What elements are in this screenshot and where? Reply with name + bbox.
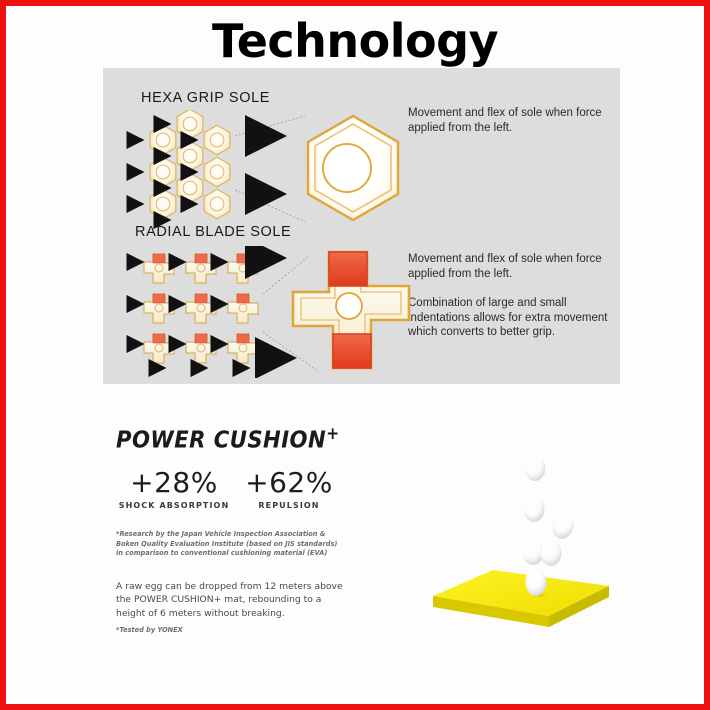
- radial-blade-sole-illustration: [123, 246, 413, 378]
- stat-repulsion-value: +62%: [234, 466, 344, 499]
- egg-bounce-illustration: [421, 446, 621, 631]
- technology-diagram-panel: HEXA GRIP SOLE Movement and flex of sole…: [103, 68, 620, 384]
- tested-by-note: *Tested by YONEX: [116, 626, 183, 634]
- stat-shock-absorption: +28% SHOCK ABSORPTION: [114, 466, 234, 510]
- radial-blade-sole-description-2: Combination of large and small indentati…: [408, 296, 613, 340]
- stat-repulsion-label: REPULSION: [234, 501, 344, 510]
- technology-page: Technology HEXA GRIP SOLE Movement and f…: [0, 0, 710, 710]
- egg: [549, 510, 577, 541]
- power-cushion-plus: +: [326, 424, 340, 444]
- egg-group: [523, 455, 578, 596]
- radial-blade-sole-description-1: Movement and flex of sole when force app…: [408, 252, 613, 281]
- hexa-grip-sole-illustration: [123, 110, 413, 230]
- egg: [525, 455, 546, 481]
- egg: [541, 540, 562, 566]
- egg: [526, 568, 547, 596]
- power-cushion-logo-text: POWER CUSHION: [116, 428, 326, 454]
- radial-blade-sole-heading: RADIAL BLADE SOLE: [135, 224, 291, 240]
- egg: [524, 496, 545, 522]
- stat-shock-absorption-label: SHOCK ABSORPTION: [114, 501, 234, 510]
- hexa-grip-sole-description: Movement and flex of sole when force app…: [408, 106, 613, 135]
- egg-drop-note: A raw egg can be dropped from 12 meters …: [116, 580, 348, 620]
- stat-shock-absorption-value: +28%: [114, 466, 234, 499]
- egg: [523, 539, 544, 565]
- power-cushion-mat: [433, 570, 609, 627]
- hexa-grip-sole-heading: HEXA GRIP SOLE: [141, 90, 270, 106]
- research-footnote: *Research by the Japan Vehicle Inspectio…: [116, 530, 344, 559]
- page-title: Technology: [6, 14, 704, 68]
- stat-repulsion: +62% REPULSION: [234, 466, 344, 510]
- power-cushion-logo: POWER CUSHION+: [116, 424, 340, 454]
